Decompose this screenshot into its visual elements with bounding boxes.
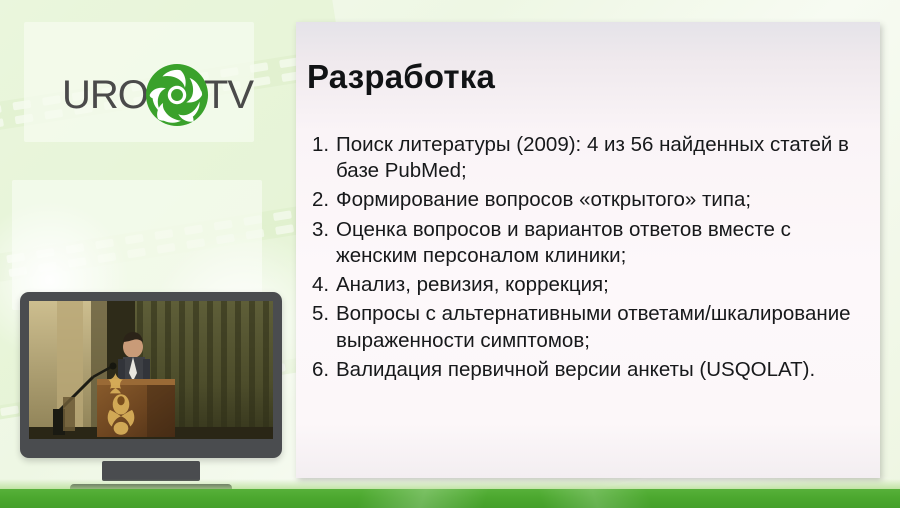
video-thumbnail[interactable] [29,301,273,439]
brand-name-right: TV [204,75,253,115]
monitor-neck [102,461,200,481]
bar-sheen [0,489,900,508]
brand-name-left: URO [62,75,148,115]
list-item-number: 5. [302,301,336,327]
list-item-number: 6. [302,357,336,383]
slide-bullet-list: 1. Поиск литературы (2009): 4 из 56 найд… [302,132,868,386]
list-item: 3. Оценка вопросов и вариантов ответов в… [302,217,868,269]
monitor-bezel [20,292,282,458]
list-item: 1. Поиск литературы (2009): 4 из 56 найд… [302,132,868,184]
film-frame-highlight [12,180,262,310]
list-item: 2. Формирование вопросов «открытого» тип… [302,187,868,213]
list-item: 6. Валидация первичной версии анкеты (US… [302,357,868,383]
list-item-number: 1. [302,132,336,158]
list-item-number: 3. [302,217,336,243]
list-item-number: 4. [302,272,336,298]
list-item: 5. Вопросы с альтернативными ответами/шк… [302,301,868,353]
list-item-text: Валидация первичной версии анкеты (USQOL… [336,357,868,383]
list-item: 4. Анализ, ревизия, коррекция; [302,272,868,298]
desktop-monitor-icon [20,292,282,495]
slide-frame: URO TV [0,0,900,508]
list-item-text: Вопросы с альтернативными ответами/шкали… [336,301,868,353]
green-bar-fade [0,479,900,489]
brand-logo: URO TV [62,62,253,128]
list-item-text: Поиск литературы (2009): 4 из 56 найденн… [336,132,868,184]
bottom-accent-bar [0,489,900,508]
list-item-text: Оценка вопросов и вариантов ответов вмес… [336,217,868,269]
list-item-text: Формирование вопросов «открытого» типа; [336,187,868,213]
list-item-text: Анализ, ревизия, коррекция; [336,272,868,298]
uro-swirl-circle-icon [144,62,210,128]
presentation-slide: Разработка 1. Поиск литературы (2009): 4… [296,22,880,478]
list-item-number: 2. [302,187,336,213]
slide-title: Разработка [307,60,495,93]
